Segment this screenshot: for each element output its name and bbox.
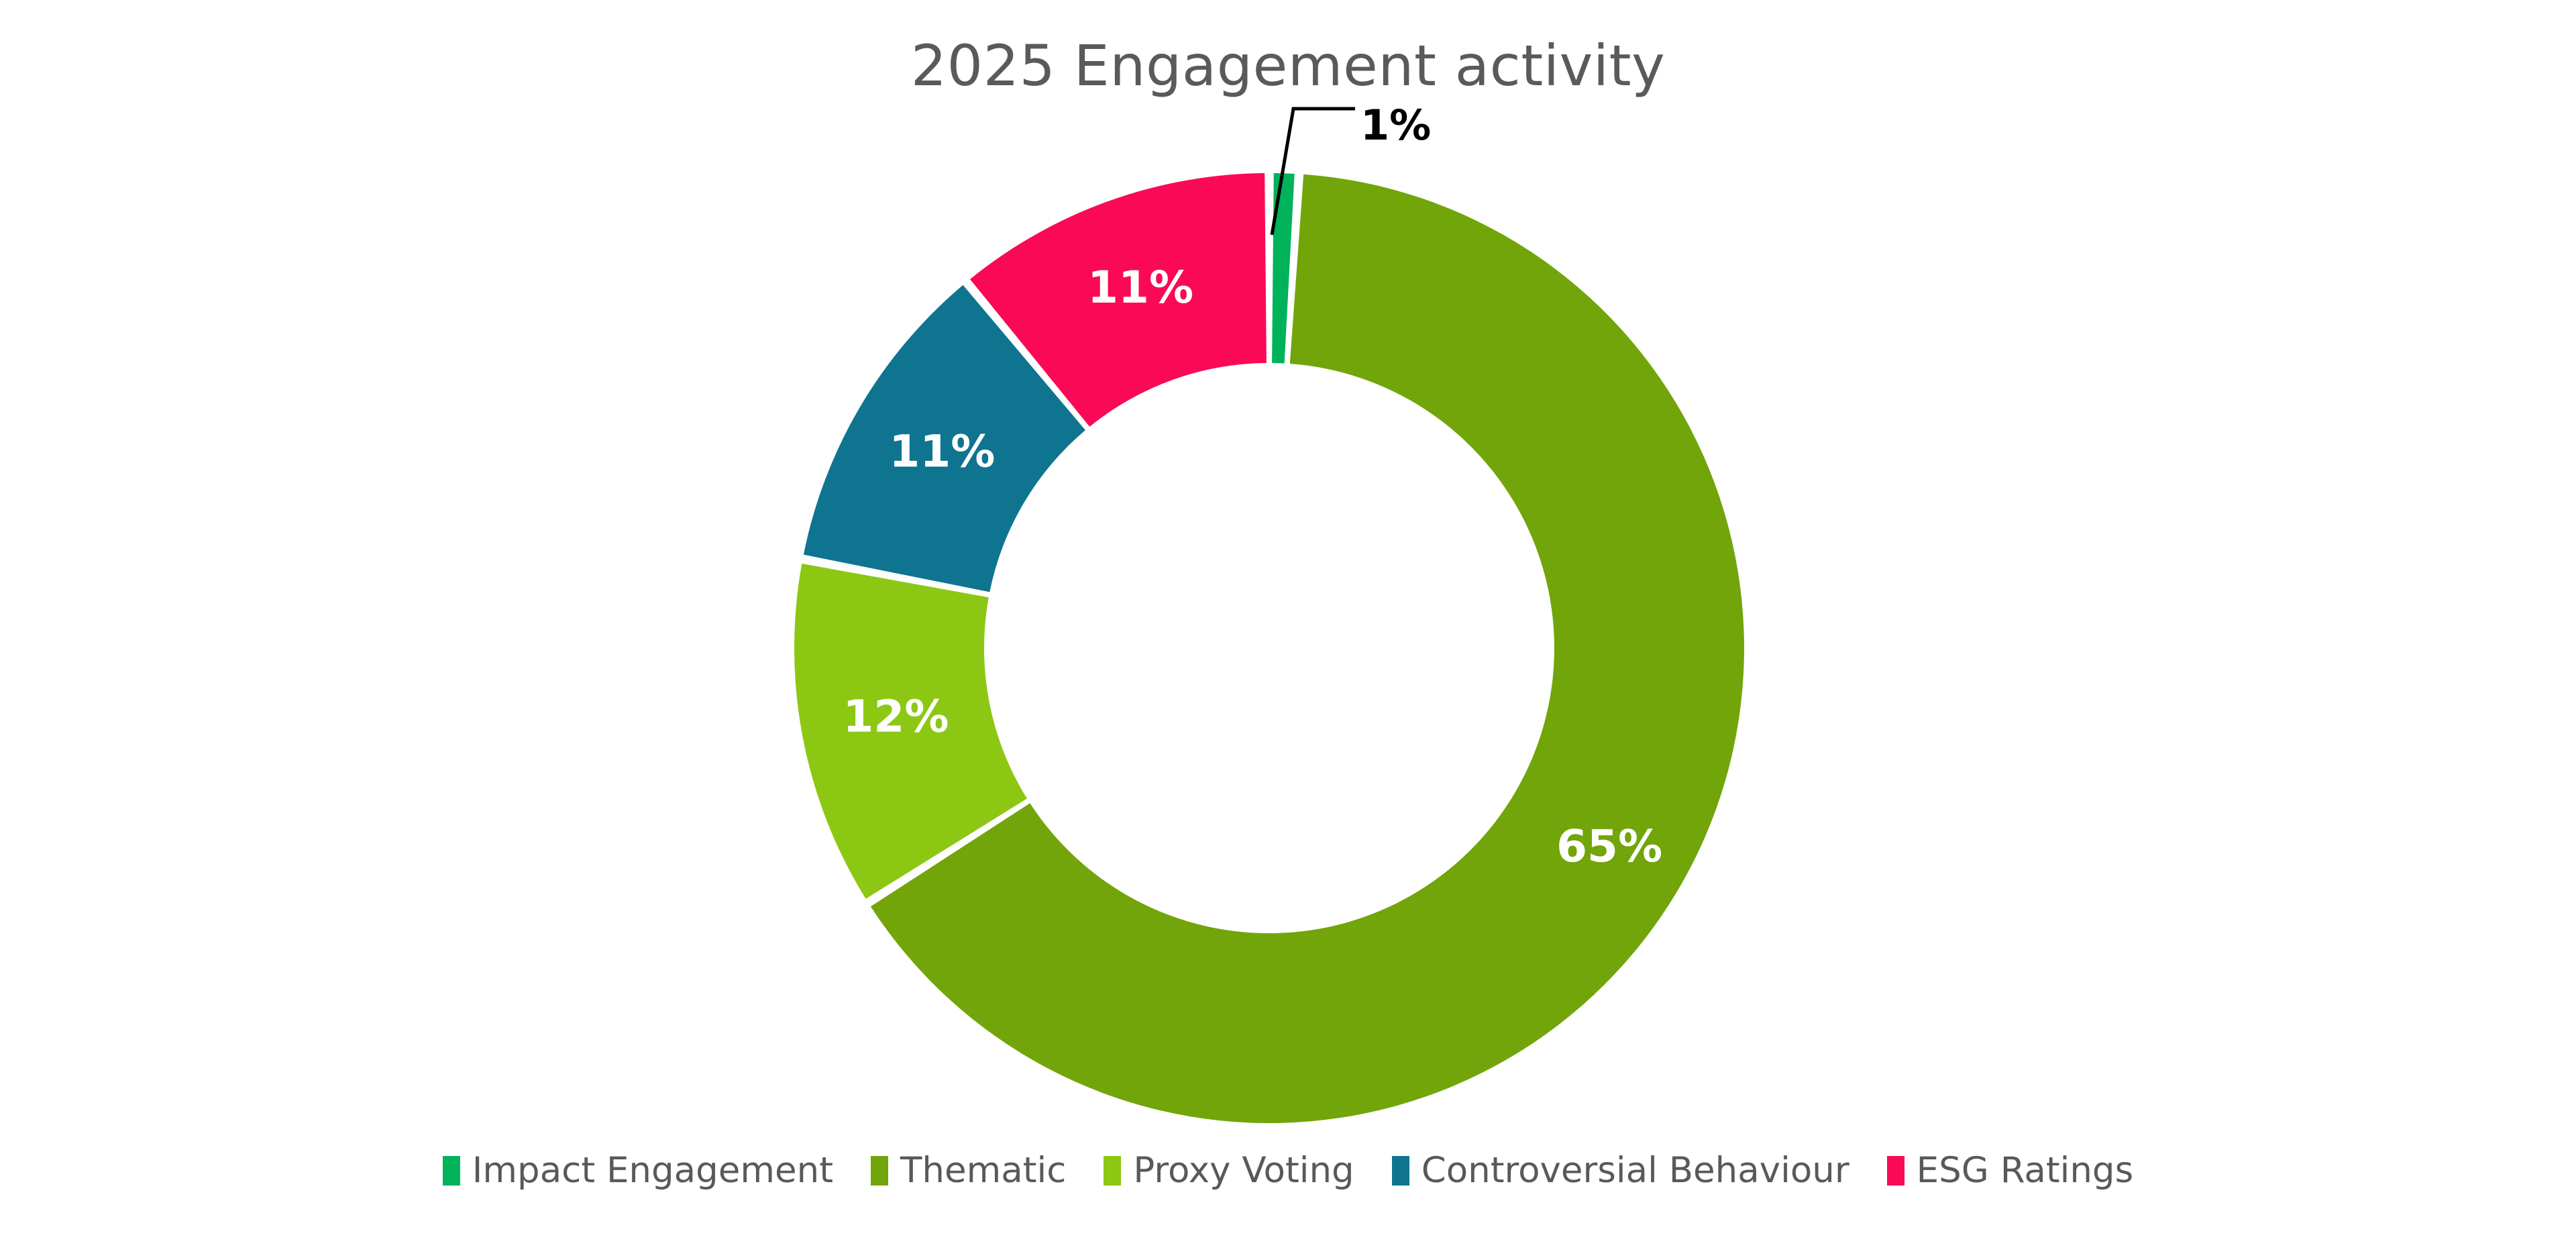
slice-label-esg-ratings: 11%: [1087, 262, 1193, 313]
legend-swatch-icon: [1104, 1156, 1121, 1186]
donut-slice-impact-engagement[interactable]: [1272, 173, 1295, 364]
legend-item-controversial-behaviour[interactable]: Controversial Behaviour: [1392, 1153, 1849, 1188]
legend-label: Controversial Behaviour: [1421, 1153, 1849, 1188]
legend-item-proxy-voting[interactable]: Proxy Voting: [1104, 1153, 1354, 1188]
legend-label: Impact Engagement: [472, 1153, 833, 1188]
legend-item-esg-ratings[interactable]: ESG Ratings: [1887, 1153, 2134, 1188]
donut-chart: 2025 Engagement activity 65% 12% 11% 11%: [0, 0, 2576, 1260]
slice-label-proxy-voting: 12%: [843, 690, 949, 742]
legend-label: ESG Ratings: [1917, 1153, 2134, 1188]
donut-svg: 65% 12% 11% 11%: [794, 173, 1744, 1123]
legend-item-impact-engagement[interactable]: Impact Engagement: [443, 1153, 833, 1188]
legend: Impact Engagement Thematic Proxy Voting …: [0, 1153, 2576, 1188]
legend-swatch-icon: [871, 1156, 888, 1186]
donut-plot-area: 65% 12% 11% 11%: [794, 173, 1744, 1123]
chart-title: 2025 Engagement activity: [0, 35, 2576, 97]
legend-label: Thematic: [900, 1153, 1066, 1188]
legend-swatch-icon: [443, 1156, 460, 1186]
slice-label-thematic: 65%: [1556, 821, 1662, 872]
legend-item-thematic[interactable]: Thematic: [871, 1153, 1066, 1188]
legend-label: Proxy Voting: [1133, 1153, 1354, 1188]
legend-swatch-icon: [1887, 1156, 1904, 1186]
slice-label-controversial-behaviour: 11%: [889, 426, 995, 478]
donut-slices: [794, 173, 1744, 1123]
slice-label-impact-engagement: 1%: [1360, 101, 1431, 150]
legend-swatch-icon: [1392, 1156, 1409, 1186]
